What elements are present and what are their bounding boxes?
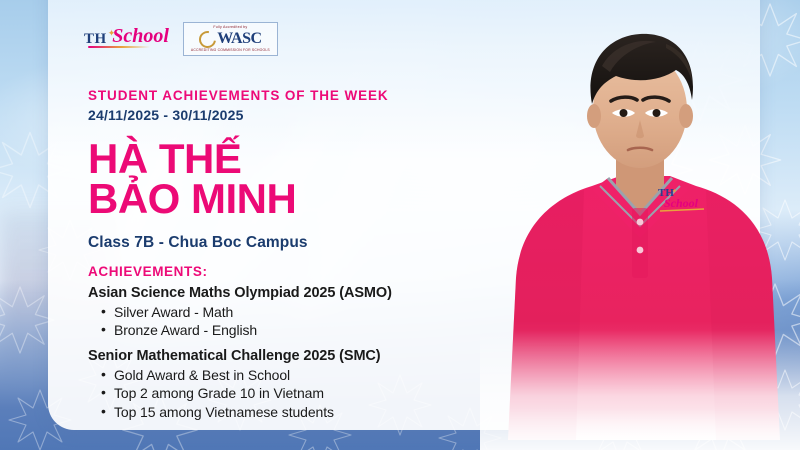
list-item: Top 2 among Grade 10 in Vietnam — [114, 384, 488, 402]
list-item: Bronze Award - English — [114, 321, 488, 339]
wasc-bottom-text: ACCREDITING COMMISSION FOR SCHOOLS — [191, 49, 270, 52]
content-block: STUDENT ACHIEVEMENTS OF THE WEEK 24/11/2… — [88, 88, 488, 421]
th-school-logo: TH ✦ School — [84, 30, 169, 48]
wasc-mid-row: WASC — [199, 31, 261, 48]
student-photo: TH ✦ School — [480, 0, 800, 450]
achievement-list: Gold Award & Best in School Top 2 among … — [88, 366, 488, 421]
wasc-wordmark: WASC — [217, 31, 261, 47]
achievement-group-1: Asian Science Maths Olympiad 2025 (ASMO)… — [88, 285, 488, 340]
logo-underline — [88, 46, 150, 48]
logo-row: TH ✦ School Fully Accredited by WASC ACC… — [84, 22, 278, 56]
student-name-line-2: BẢO MINH — [88, 179, 488, 219]
th-school-logo-mark: TH — [84, 32, 107, 47]
svg-text:✦: ✦ — [672, 188, 677, 195]
date-range: 24/11/2025 - 30/11/2025 — [88, 107, 488, 123]
wasc-top-text: Fully Accredited by — [213, 26, 247, 30]
list-item: Silver Award - Math — [114, 303, 488, 321]
svg-text:School: School — [664, 196, 699, 210]
achievement-title: Senior Mathematical Challenge 2025 (SMC) — [88, 348, 488, 364]
achievements-label: ACHIEVEMENTS: — [88, 264, 488, 279]
student-name: HÀ THẾ BẢO MINH — [88, 139, 488, 220]
kicker-heading: STUDENT ACHIEVEMENTS OF THE WEEK — [88, 88, 488, 105]
th-school-logo-script: School — [112, 26, 169, 46]
poster-canvas: TH ✦ School TH ✦ School Fully Accredited… — [0, 0, 800, 450]
class-campus: Class 7B - Chua Boc Campus — [88, 234, 488, 252]
student-name-line-1: HÀ THẾ — [88, 139, 488, 179]
achievement-group-2: Senior Mathematical Challenge 2025 (SMC)… — [88, 348, 488, 422]
wasc-logo: Fully Accredited by WASC ACCREDITING COM… — [183, 22, 278, 56]
list-item: Top 15 among Vietnamese students — [114, 403, 488, 421]
achievement-title: Asian Science Maths Olympiad 2025 (ASMO) — [88, 285, 488, 301]
list-item: Gold Award & Best in School — [114, 366, 488, 384]
achievement-list: Silver Award - Math Bronze Award - Engli… — [88, 303, 488, 340]
